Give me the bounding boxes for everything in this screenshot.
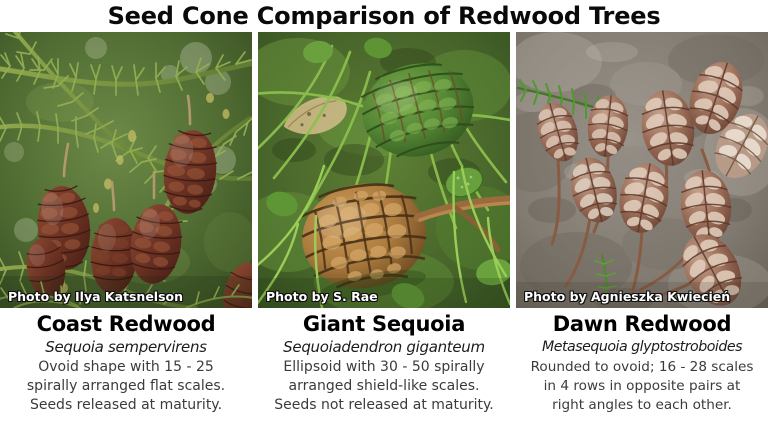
photo-coast-redwood: Photo by Ilya Katsnelson (0, 32, 252, 308)
scientific-name: Metasequoia glyptostroboides (516, 337, 768, 357)
description-line: Seeds not released at maturity. (261, 396, 507, 415)
scientific-name: Sequoiadendron giganteum (258, 337, 510, 357)
description-line: right angles to each other. (519, 396, 765, 415)
description-line: Rounded to ovoid; 16 - 28 scales (519, 358, 765, 377)
description-line: Ovoid shape with 15 - 25 (3, 358, 249, 377)
description: Ovoid shape with 15 - 25 spirally arrang… (0, 357, 252, 415)
description: Ellipsoid with 30 - 50 spirally arranged… (258, 357, 510, 415)
caption-giant-sequoia: Giant Sequoia Sequoiadendron giganteum E… (258, 308, 510, 415)
comparison-columns: Photo by Ilya Katsnelson Coast Redwood S… (0, 32, 768, 427)
description: Rounded to ovoid; 16 - 28 scales in 4 ro… (516, 357, 768, 415)
description-line: spirally arranged flat scales. (3, 377, 249, 396)
caption-coast-redwood: Coast Redwood Sequoia sempervirens Ovoid… (0, 308, 252, 415)
common-name: Coast Redwood (0, 312, 252, 337)
caption-dawn-redwood: Dawn Redwood Metasequoia glyptostroboide… (516, 308, 768, 415)
common-name: Giant Sequoia (258, 312, 510, 337)
column-giant-sequoia: Photo by S. Rae Giant Sequoia Sequoiaden… (258, 32, 510, 427)
coast-redwood-illustration (0, 32, 252, 308)
photo-giant-sequoia: Photo by S. Rae (258, 32, 510, 308)
infographic-root: Seed Cone Comparison of Redwood Trees (0, 0, 768, 427)
scientific-name: Sequoia sempervirens (0, 337, 252, 357)
common-name: Dawn Redwood (516, 312, 768, 337)
dawn-redwood-illustration (516, 32, 768, 308)
column-coast-redwood: Photo by Ilya Katsnelson Coast Redwood S… (0, 32, 252, 427)
column-dawn-redwood: Photo by Agnieszka Kwiecień Dawn Redwood… (516, 32, 768, 427)
giant-sequoia-illustration (258, 32, 510, 308)
description-line: arranged shield-like scales. (261, 377, 507, 396)
description-line: in 4 rows in opposite pairs at (519, 377, 765, 396)
description-line: Ellipsoid with 30 - 50 spirally (261, 358, 507, 377)
description-line: Seeds released at maturity. (3, 396, 249, 415)
page-title: Seed Cone Comparison of Redwood Trees (0, 2, 768, 30)
photo-dawn-redwood: Photo by Agnieszka Kwiecień (516, 32, 768, 308)
